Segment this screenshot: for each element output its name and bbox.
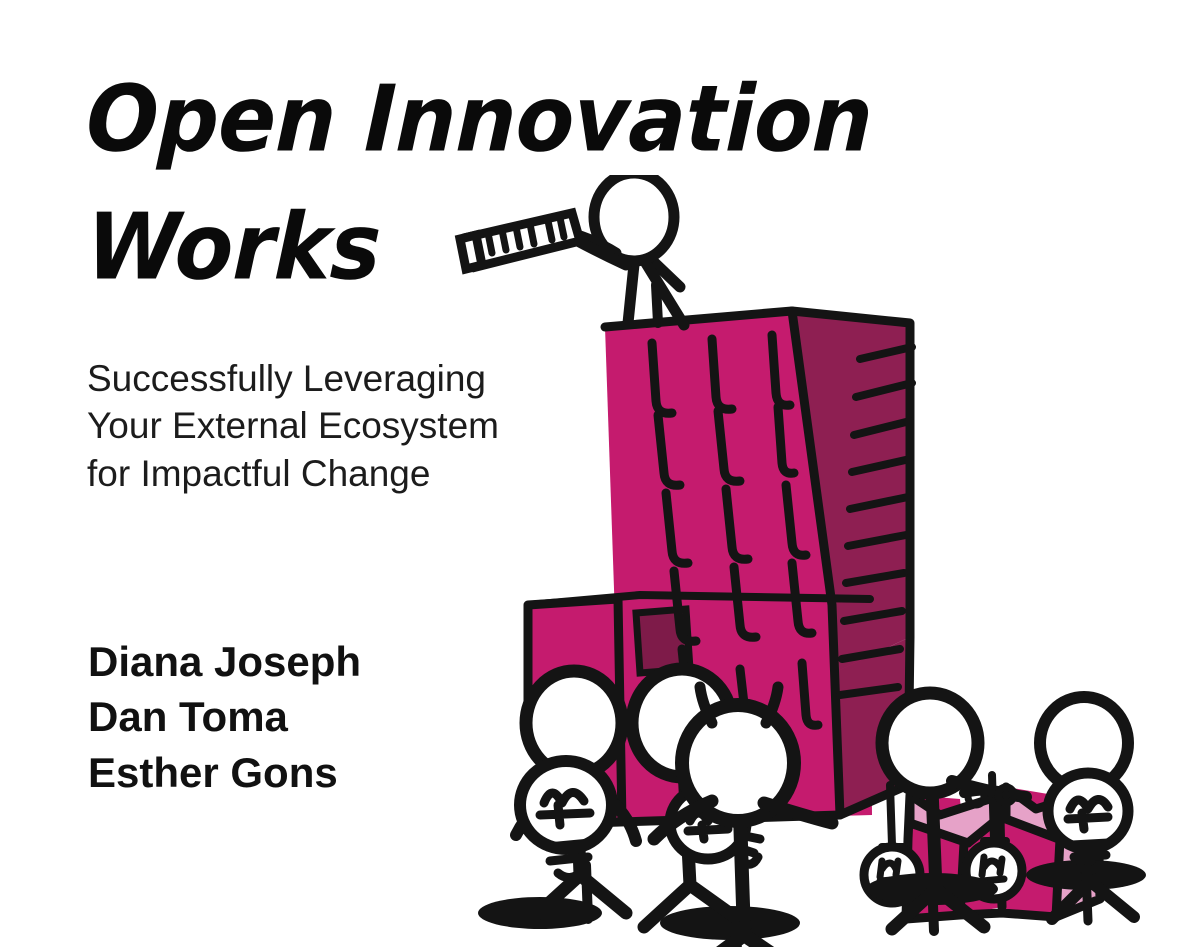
roof-figure-leg-small <box>656 285 658 323</box>
cover-illustration: .ink { stroke:#141414; stroke-linecap:ro… <box>440 175 1200 947</box>
book-title-line-2: Works <box>85 202 382 294</box>
figure-left-leg-mid <box>586 865 588 919</box>
figure-right-inner-leg-mid <box>932 879 934 931</box>
book-subtitle: Successfully Leveraging Your External Ec… <box>87 355 587 497</box>
roof-figure-with-telescope <box>460 175 684 325</box>
link-knot-1 <box>968 789 984 805</box>
subtitle-line-3: for Impactful Change <box>87 450 587 497</box>
author-name-2: Dan Toma <box>88 689 361 744</box>
book-cover: Open Innovation Works Successfully Lever… <box>0 0 1200 947</box>
illustration-svg: .ink { stroke:#141414; stroke-linecap:ro… <box>440 175 1200 947</box>
author-name-3: Esther Gons <box>88 745 361 800</box>
bulb-1-cord <box>890 785 892 845</box>
book-authors: Diana Joseph Dan Toma Esther Gons <box>88 634 361 800</box>
figure-center-leg-mid <box>736 925 738 947</box>
subtitle-line-2: Your External Ecosystem <box>87 402 587 449</box>
telescope-eyepiece <box>460 235 482 269</box>
figure-right-inner-head <box>882 693 978 793</box>
subtitle-line-1: Successfully Leveraging <box>87 355 587 402</box>
figure-far-right-leg-mid <box>1086 871 1088 921</box>
held-bulb-2-base <box>1072 843 1108 871</box>
bulb-2-cord <box>992 775 994 839</box>
figure-left-held-bulb <box>520 761 612 878</box>
author-name-1: Diana Joseph <box>88 634 361 689</box>
book-title-line-1: Open Innovation <box>85 74 874 166</box>
